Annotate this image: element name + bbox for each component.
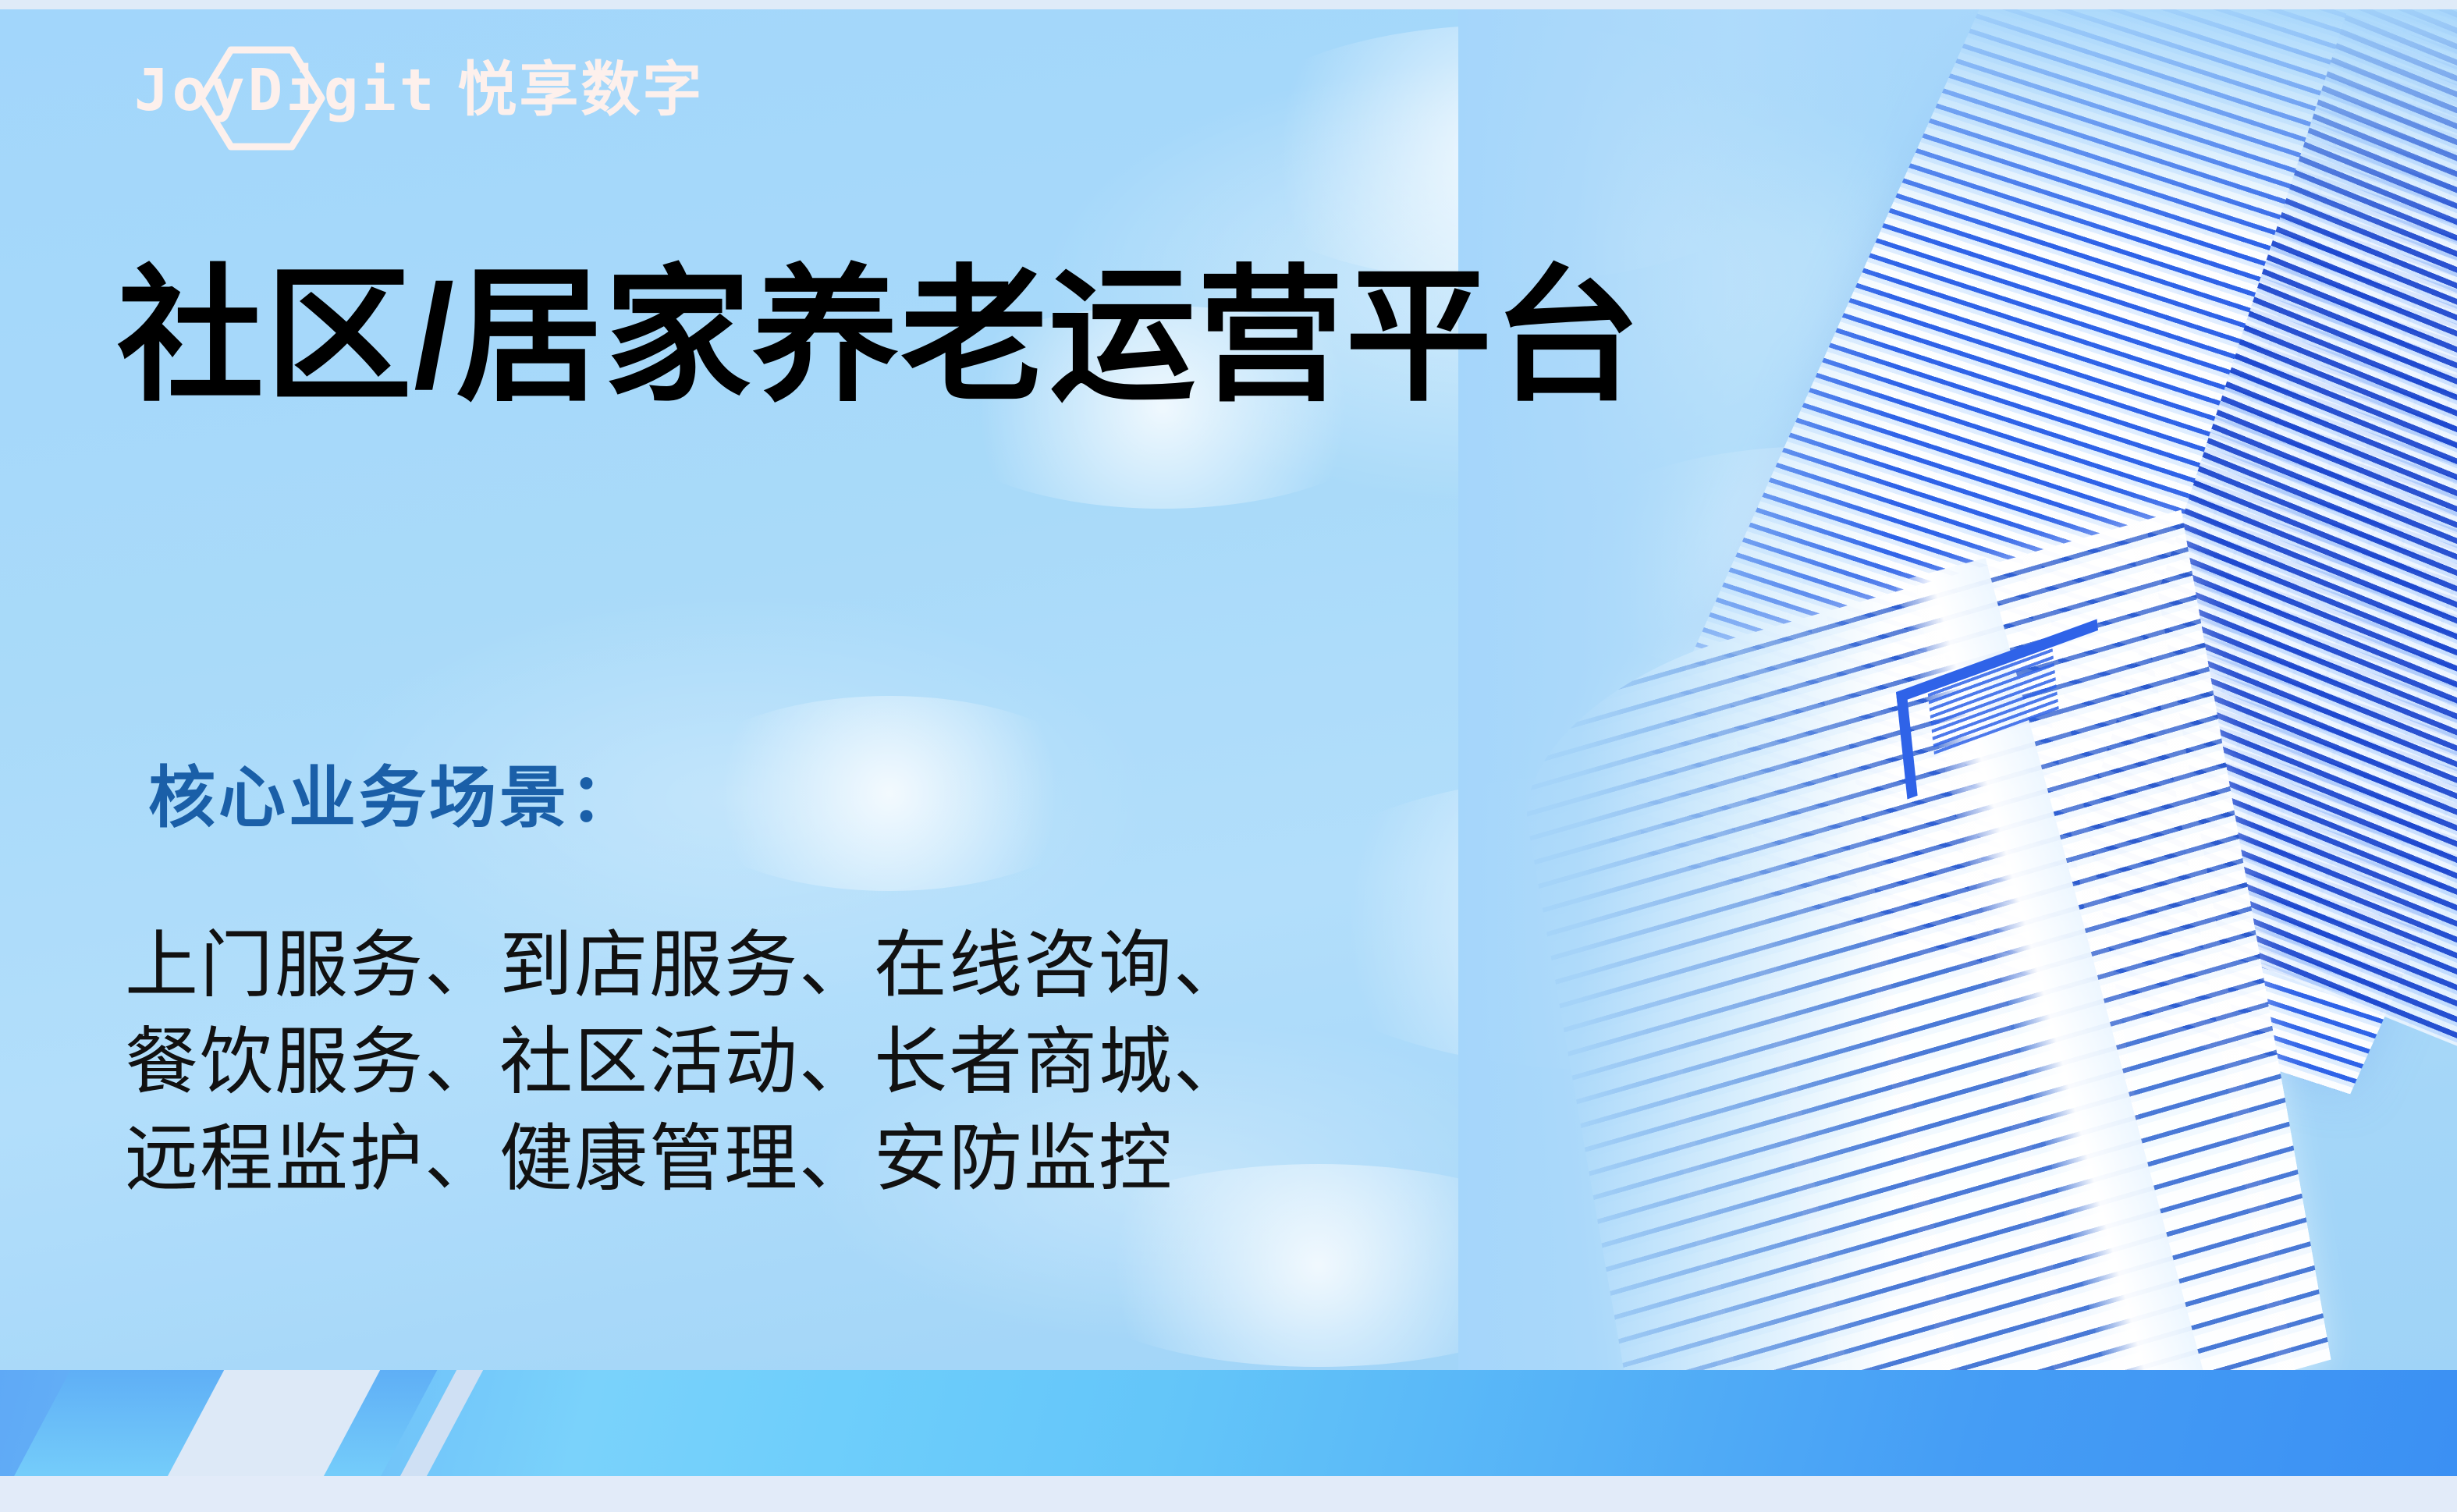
list-item: 上门服务、到店服务、在线咨询、 (125, 917, 1248, 1013)
skyscraper-photo (1458, 9, 2457, 1370)
brand-wordmark: JoyDigit (134, 62, 437, 119)
list-item: 餐饮服务、社区活动、长者商城、 (125, 1013, 1248, 1110)
top-edge-strip (0, 0, 2457, 9)
page-title: 社区/居家养老运营平台 (117, 257, 1642, 416)
cloud-shape (671, 696, 1108, 891)
section-heading: 核心业务场景： (148, 765, 640, 832)
footer-edge-strip (0, 1476, 2457, 1512)
bottom-decorative-band (0, 1370, 2457, 1476)
brand-chinese-name: 悦享数字 (457, 61, 704, 120)
slide-canvas: JoyDigit 悦享数字 社区/居家养老运营平台 核心业务场景： 上门服务、到… (0, 0, 2457, 1512)
photo-left-fade (1458, 9, 1895, 1370)
business-scenario-list: 上门服务、到店服务、在线咨询、 餐饮服务、社区活动、长者商城、 远程监护、健康管… (125, 917, 1248, 1207)
brand-logo: JoyDigit 悦享数字 (134, 61, 704, 120)
list-item: 远程监护、健康管理、安防监控 (125, 1110, 1248, 1207)
